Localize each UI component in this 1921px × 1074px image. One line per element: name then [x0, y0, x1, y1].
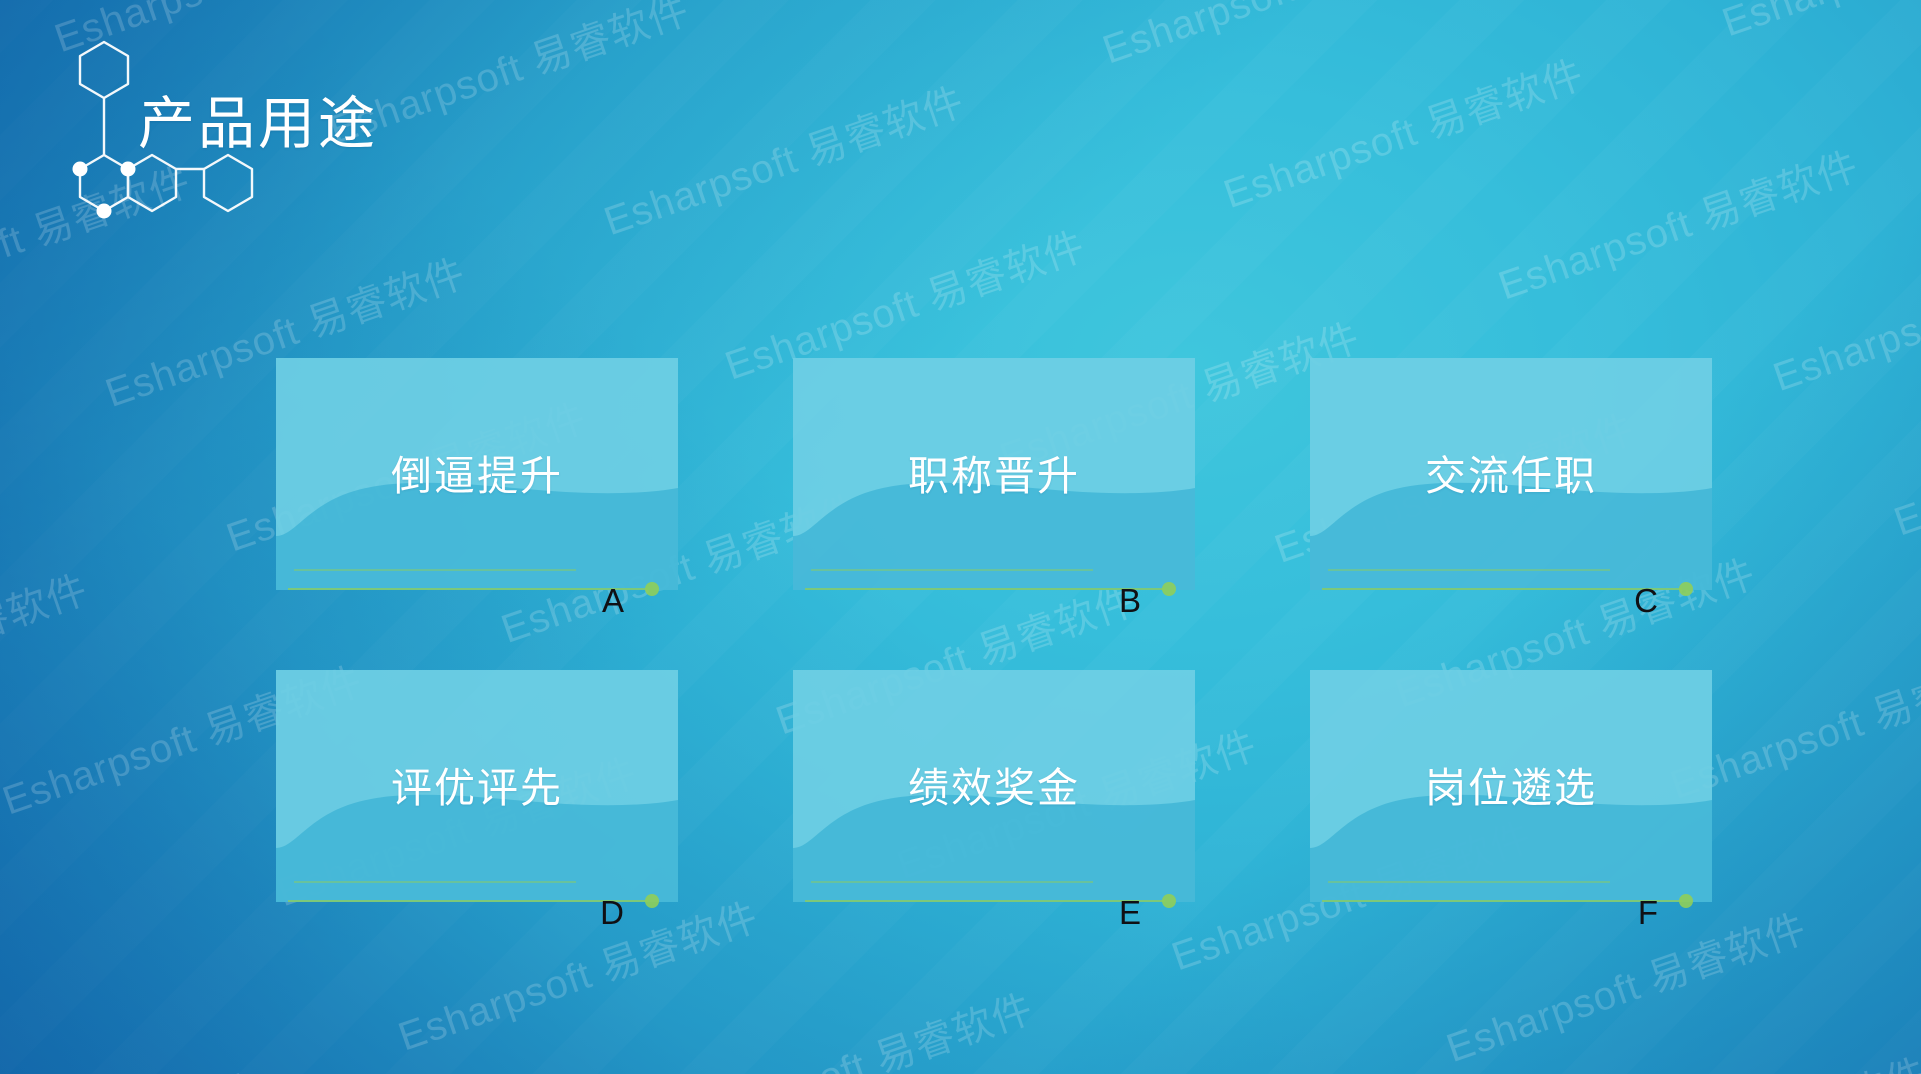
watermark-text: Esharpsoft 易睿软件 [1764, 225, 1921, 403]
slide-canvas: Esharpsoft 易睿软件Esharpsoft 易睿软件Esharpsoft… [0, 0, 1921, 1074]
card-accent-dot [1679, 582, 1693, 596]
card-accent-dot [645, 894, 659, 908]
watermark-text: Esharpsoft 易睿软件 [1559, 1041, 1921, 1074]
molecule-node-bottom [97, 204, 112, 219]
watermark-text: Esharpsoft 易睿软件 [1489, 134, 1865, 312]
molecule-node-mid [121, 162, 136, 177]
feature-card[interactable]: 绩效奖金E [793, 670, 1195, 940]
feature-card[interactable]: 岗位遴选F [1310, 670, 1712, 940]
card-letter-badge: E [1119, 896, 1141, 929]
card-accent-dot [1162, 582, 1176, 596]
card-title: 倒逼提升 [276, 442, 678, 502]
slide-header: 产品用途 [0, 0, 900, 300]
card-letter-badge: F [1638, 896, 1658, 929]
card-grid: 倒逼提升A职称晋升B交流任职C评优评先D绩效奖金E岗位遴选F [276, 358, 1712, 940]
card-title: 职称晋升 [793, 442, 1195, 502]
watermark-text: Esharpsoft 易睿软件 [0, 557, 95, 735]
card-accent-dot [1162, 894, 1176, 908]
card-letter-badge: D [600, 896, 624, 929]
card-title: 评优评先 [276, 754, 678, 814]
feature-card[interactable]: 职称晋升B [793, 358, 1195, 628]
feature-card[interactable]: 评优评先D [276, 670, 678, 940]
watermark-text: Esharpsoft 易睿软件 [1215, 42, 1591, 220]
card-title: 岗位遴选 [1310, 754, 1712, 814]
molecule-node-left [73, 162, 88, 177]
watermark-text: Esharpsoft 易睿软件 [0, 1056, 266, 1074]
card-letter-badge: C [1634, 584, 1658, 617]
feature-card[interactable]: 交流任职C [1310, 358, 1712, 628]
card-title: 交流任职 [1310, 442, 1712, 502]
feature-card[interactable]: 倒逼提升A [276, 358, 678, 628]
watermark-row: Esharpsoft 易睿软件Esharpsoft 易睿软件Esharpsoft… [120, 1050, 1921, 1074]
watermark-text: Esharpsoft 易睿软件 [1713, 0, 1921, 48]
page-title: 产品用途 [138, 96, 378, 153]
watermark-text: Esharpsoft 易睿软件 [1885, 370, 1921, 548]
card-title: 绩效奖金 [793, 754, 1195, 814]
watermark-text: Esharpsoft 易睿软件 [664, 976, 1040, 1074]
watermark-text: Esharpsoft 易睿软件 [939, 1068, 1315, 1074]
card-accent-dot [645, 582, 659, 596]
card-accent-dot [1679, 894, 1693, 908]
watermark-text: Esharpsoft 易睿软件 [1094, 0, 1470, 75]
card-letter-badge: B [1119, 584, 1141, 617]
card-letter-badge: A [602, 584, 624, 617]
